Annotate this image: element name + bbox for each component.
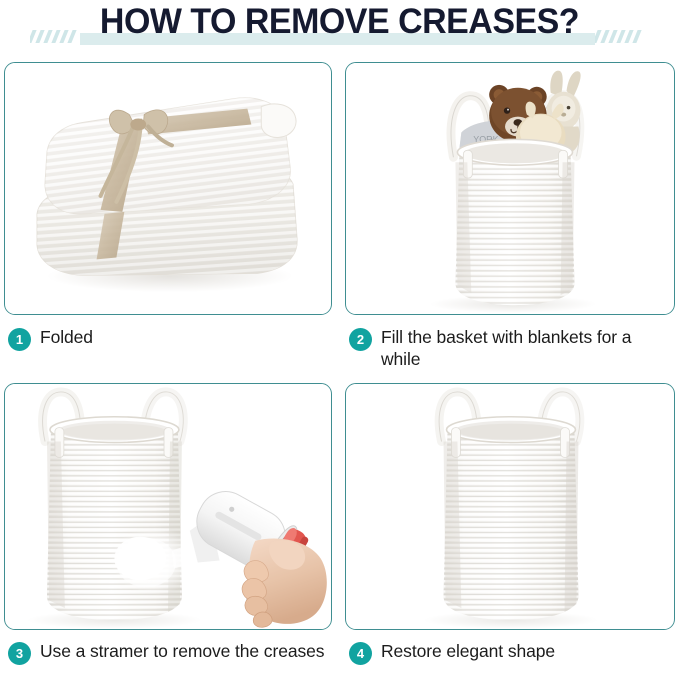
infographic-page: HOW TO REMOVE CREASES? <box>0 0 679 684</box>
step-number-badge-1: 1 <box>8 328 31 351</box>
step-caption-1: 1 Folded <box>8 326 333 351</box>
step-panel-4 <box>345 383 675 630</box>
step-panel-3 <box>4 383 332 630</box>
step-number-badge-2: 2 <box>349 328 372 351</box>
step-number-badge-4: 4 <box>349 642 372 665</box>
steaming-basket-photo <box>5 384 331 629</box>
step-panel-1 <box>4 62 332 315</box>
step-caption-text-1: Folded <box>40 326 93 348</box>
step-panel-2: YORK <box>345 62 675 315</box>
step-caption-text-4: Restore elegant shape <box>381 640 555 662</box>
step-caption-text-3: Use a stramer to remove the creases <box>40 640 324 662</box>
step-caption-4: 4 Restore elegant shape <box>349 640 675 665</box>
basket-with-plush-toys-photo: YORK <box>346 63 674 314</box>
step-caption-3: 3 Use a stramer to remove the creases <box>8 640 333 665</box>
page-title: HOW TO REMOVE CREASES? <box>10 0 669 44</box>
step-caption-text-2: Fill the basket with blankets for a whil… <box>381 326 675 370</box>
step-number-badge-3: 3 <box>8 642 31 665</box>
step-caption-2: 2 Fill the basket with blankets for a wh… <box>349 326 675 370</box>
page-header: HOW TO REMOVE CREASES? <box>0 0 679 56</box>
restored-basket-photo <box>346 384 674 629</box>
folded-blanket-photo <box>5 63 331 314</box>
